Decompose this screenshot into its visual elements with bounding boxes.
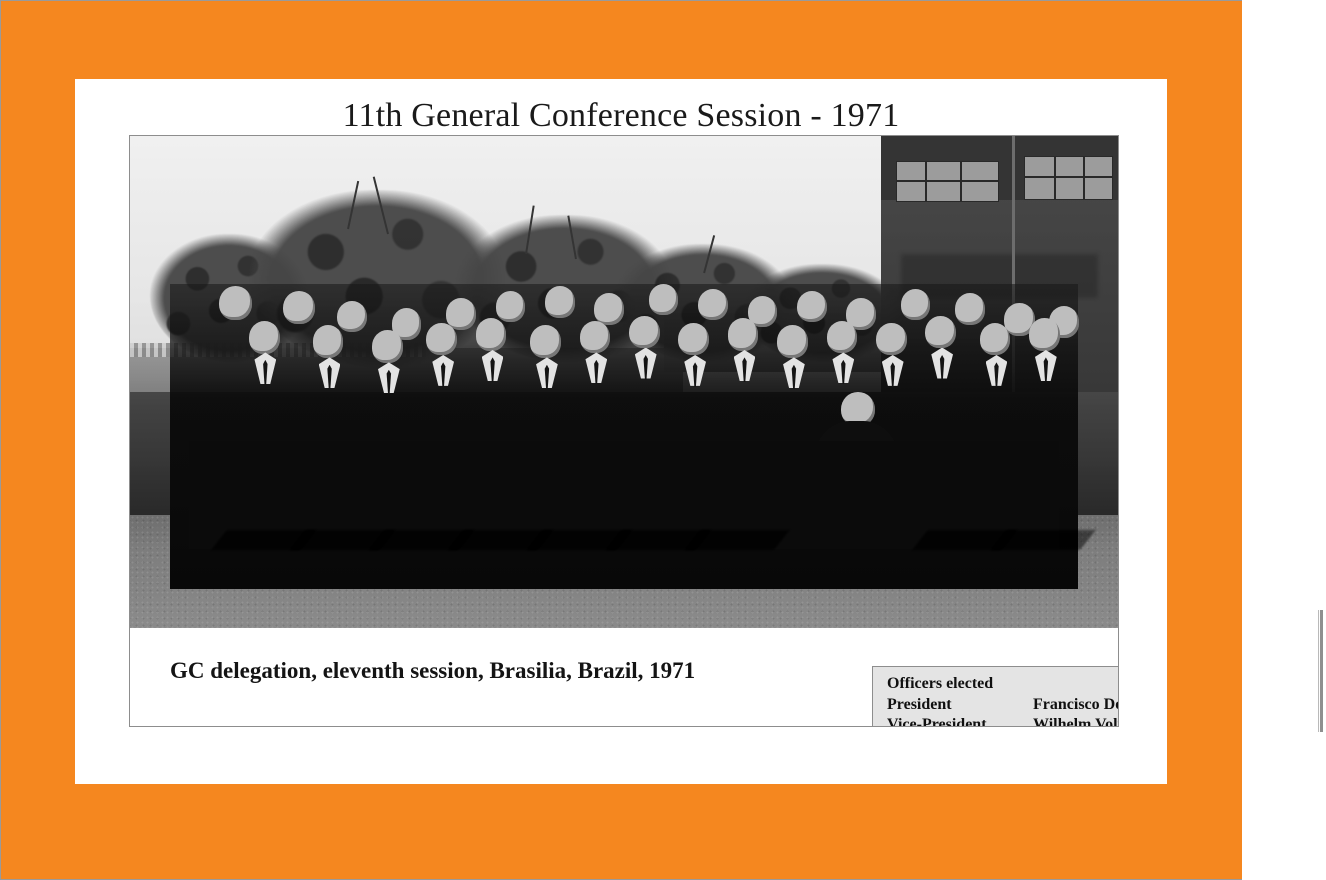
photo-shadow (685, 530, 789, 550)
scrollbar-thumb[interactable] (1320, 610, 1323, 732)
photo-person-head (1029, 318, 1060, 350)
officer-row-vice-president: Vice-President Wilhelm Volpp (887, 715, 1119, 727)
officers-heading: Officers elected (887, 674, 1119, 695)
right-pane (1243, 0, 1326, 880)
photo-person-head (530, 325, 561, 357)
photo-person-head (777, 325, 808, 357)
photo-person-head (678, 323, 709, 355)
photo-shadow (992, 530, 1096, 550)
photo-person-head (545, 286, 575, 317)
group-photograph (130, 136, 1118, 628)
photo-person-head (955, 293, 985, 324)
photo-person-head (496, 291, 526, 322)
page-title: 11th General Conference Session - 1971 (75, 97, 1167, 135)
photo-person-head (313, 325, 344, 357)
photo-window-transom (1024, 176, 1113, 178)
photo-person-head (925, 316, 956, 348)
photo-person-head (827, 321, 858, 353)
photo-person-head (876, 323, 907, 355)
photo-person-head (629, 316, 660, 348)
photo-window-transom (896, 180, 1000, 182)
photo-person-head (580, 321, 611, 353)
slide-canvas: 11th General Conference Session - 1971 (0, 0, 1242, 880)
photo-person-head (980, 323, 1011, 355)
screenshot-root: 11th General Conference Session - 1971 (0, 0, 1326, 880)
photo-person-head (249, 321, 281, 354)
officers-elected-box: Officers elected President Francisco Dev… (872, 666, 1119, 727)
photo-person-head (698, 289, 728, 320)
photo-person-head (476, 318, 507, 350)
photo-person-head (337, 301, 367, 332)
officer-name: Francisco Devai (1033, 695, 1119, 716)
photo-person-head (901, 289, 931, 320)
photo-person-head (797, 291, 827, 322)
vertical-scrollbar[interactable] (1318, 610, 1323, 732)
slide-content-panel: 11th General Conference Session - 1971 (75, 79, 1167, 784)
photo-person-head (594, 293, 624, 324)
officer-role: President (887, 695, 1033, 716)
figure-caption: GC delegation, eleventh session, Brasili… (170, 658, 695, 684)
photo-person-head (728, 318, 759, 350)
photo-person-head (372, 330, 403, 362)
officer-row-president: President Francisco Devai (887, 695, 1119, 716)
photo-person-head (219, 286, 252, 320)
photo-person-head (283, 291, 315, 324)
photo-person-head (426, 323, 457, 355)
officer-name: Wilhelm Volpp (1033, 715, 1119, 727)
officer-role: Vice-President (887, 715, 1033, 727)
photo-person-head (649, 284, 679, 315)
figure-frame: GC delegation, eleventh session, Brasili… (129, 135, 1119, 727)
